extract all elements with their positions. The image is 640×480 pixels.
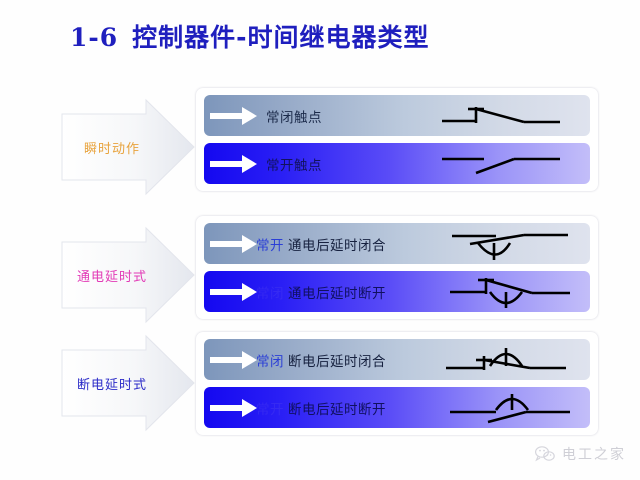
group-panel-off-delay: 常闭断电后延时闭合 常开断电后延时断开 <box>196 332 598 435</box>
group-panel-on-delay: 常开通电后延时闭合 常闭通电后延时断开 <box>196 216 598 319</box>
off-delay-open-icon <box>448 388 572 428</box>
contact-row-prefix: 常闭 <box>256 286 284 302</box>
contact-row-prefix: 常开 <box>256 402 284 418</box>
slide-canvas: 1-6控制器件-时间继电器类型 瞬时动作 通电延时式 断电延时式 <box>0 0 640 480</box>
contact-row-text: 常闭断电后延时闭合 <box>256 350 386 370</box>
contact-row-label: 通电后延时断开 <box>288 286 386 302</box>
arrow-right-icon <box>210 399 258 417</box>
off-delay-close-icon <box>444 340 568 380</box>
category-chevron-instantaneous[interactable]: 瞬时动作 <box>58 98 198 196</box>
contact-row-prefix: 常开 <box>256 238 284 254</box>
contact-row-label: 常开触点 <box>266 158 322 174</box>
contact-row-text: 常开通电后延时闭合 <box>256 234 386 254</box>
contact-row[interactable]: 常闭通电后延时断开 <box>204 271 590 312</box>
arrow-right-icon <box>210 107 258 125</box>
category-label-on-delay: 通电延时式 <box>66 226 158 324</box>
watermark-text: 电工之家 <box>562 444 626 464</box>
no-contact-icon <box>440 147 562 181</box>
contact-row-text: 常开触点 <box>262 154 322 174</box>
contact-row-prefix: 常闭 <box>256 354 284 370</box>
contact-row[interactable]: 常开断电后延时断开 <box>204 387 590 428</box>
contact-row-text: 常闭通电后延时断开 <box>256 282 386 302</box>
category-label-off-delay: 断电延时式 <box>66 334 158 432</box>
page-title: 1-6控制器件-时间继电器类型 <box>70 18 430 54</box>
contact-row-text: 常闭触点 <box>262 106 322 126</box>
category-label-instantaneous: 瞬时动作 <box>66 98 158 196</box>
contact-row-label: 通电后延时闭合 <box>288 238 386 254</box>
on-delay-close-icon <box>450 224 570 264</box>
group-panel-instantaneous: 常闭触点 常开触点 <box>196 88 598 191</box>
arrow-right-icon <box>210 283 258 301</box>
on-delay-open-icon <box>448 272 572 312</box>
contact-row[interactable]: 常闭断电后延时闭合 <box>204 339 590 380</box>
contact-row-label: 断电后延时闭合 <box>288 354 386 370</box>
category-chevron-off-delay[interactable]: 断电延时式 <box>58 334 198 432</box>
wechat-icon <box>534 445 556 463</box>
contact-row-label: 常闭触点 <box>266 110 322 126</box>
title-number: 1-6 <box>70 23 118 52</box>
arrow-right-icon <box>210 235 258 253</box>
contact-row[interactable]: 常开触点 <box>204 143 590 184</box>
arrow-right-icon <box>210 155 258 173</box>
nc-contact-icon <box>440 99 562 133</box>
contact-row[interactable]: 常开通电后延时闭合 <box>204 223 590 264</box>
contact-row-label: 断电后延时断开 <box>288 402 386 418</box>
contact-row-text: 常开断电后延时断开 <box>256 398 386 418</box>
watermark: 电工之家 <box>534 444 626 464</box>
contact-row[interactable]: 常闭触点 <box>204 95 590 136</box>
arrow-right-icon <box>210 351 258 369</box>
category-chevron-on-delay[interactable]: 通电延时式 <box>58 226 198 324</box>
title-text: 控制器件-时间继电器类型 <box>132 23 429 52</box>
